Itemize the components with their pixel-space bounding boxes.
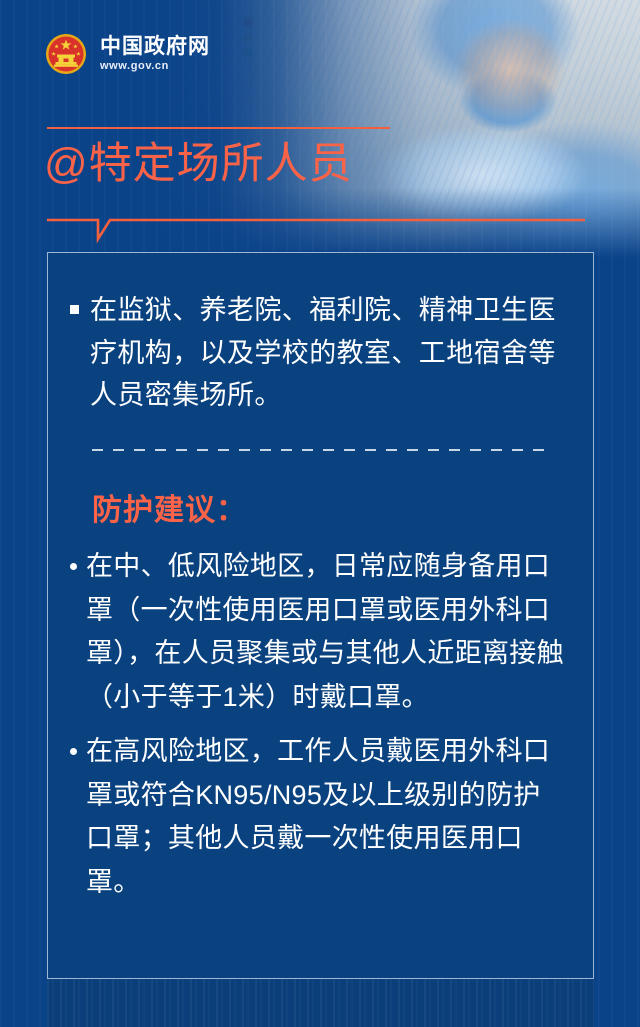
list-item: 在中、低风险地区，日常应随身备用口罩（一次性使用医用口罩或医用外科口罩），在人员…: [70, 545, 567, 720]
footer-stripe-band: [47, 979, 594, 1027]
china-national-emblem-icon: [44, 32, 88, 76]
page-title: @特定场所人员: [44, 140, 353, 190]
dot-bullet-icon: [70, 563, 77, 570]
definition-block: 在监狱、养老院、福利院、精神卫生医疗机构，以及学校的教室、工地宿舍等人员密集场所…: [70, 289, 567, 417]
content-panel: 在监狱、养老院、福利院、精神卫生医疗机构，以及学校的教室、工地宿舍等人员密集场所…: [47, 252, 594, 979]
advice-item-text: 在中、低风险地区，日常应随身备用口罩（一次性使用医用口罩或医用外科口罩），在人员…: [86, 545, 567, 720]
content-panel-inner: 在监狱、养老院、福利院、精神卫生医疗机构，以及学校的教室、工地宿舍等人员密集场所…: [48, 253, 593, 905]
definition-text: 在监狱、养老院、福利院、精神卫生医疗机构，以及学校的教室、工地宿舍等人员密集场所…: [90, 289, 567, 417]
title-rule-top: [47, 127, 390, 129]
brand-name: 中国政府网: [100, 36, 210, 58]
list-item: 在高风险地区，工作人员戴医用外科口罩或符合KN95/N95及以上级别的防护口罩；…: [70, 730, 567, 905]
dashed-divider: [92, 449, 545, 451]
poster-root: 中国政府网 www.gov.cn @特定场所人员 在监狱、养老院、福利院、精神卫…: [0, 0, 640, 1027]
brand-lockup[interactable]: 中国政府网 www.gov.cn: [44, 32, 210, 76]
square-bullet-icon: [70, 305, 79, 314]
advice-list: 在中、低风险地区，日常应随身备用口罩（一次性使用医用口罩或医用外科口罩），在人员…: [70, 545, 567, 905]
brand-url: www.gov.cn: [100, 61, 210, 72]
brand-text: 中国政府网 www.gov.cn: [100, 36, 210, 71]
advice-heading: 防护建议：: [92, 485, 567, 529]
advice-item-text: 在高风险地区，工作人员戴医用外科口罩或符合KN95/N95及以上级别的防护口罩；…: [86, 730, 567, 905]
title-rule-bottom-with-tail: [40, 210, 600, 255]
dot-bullet-icon: [70, 748, 77, 755]
